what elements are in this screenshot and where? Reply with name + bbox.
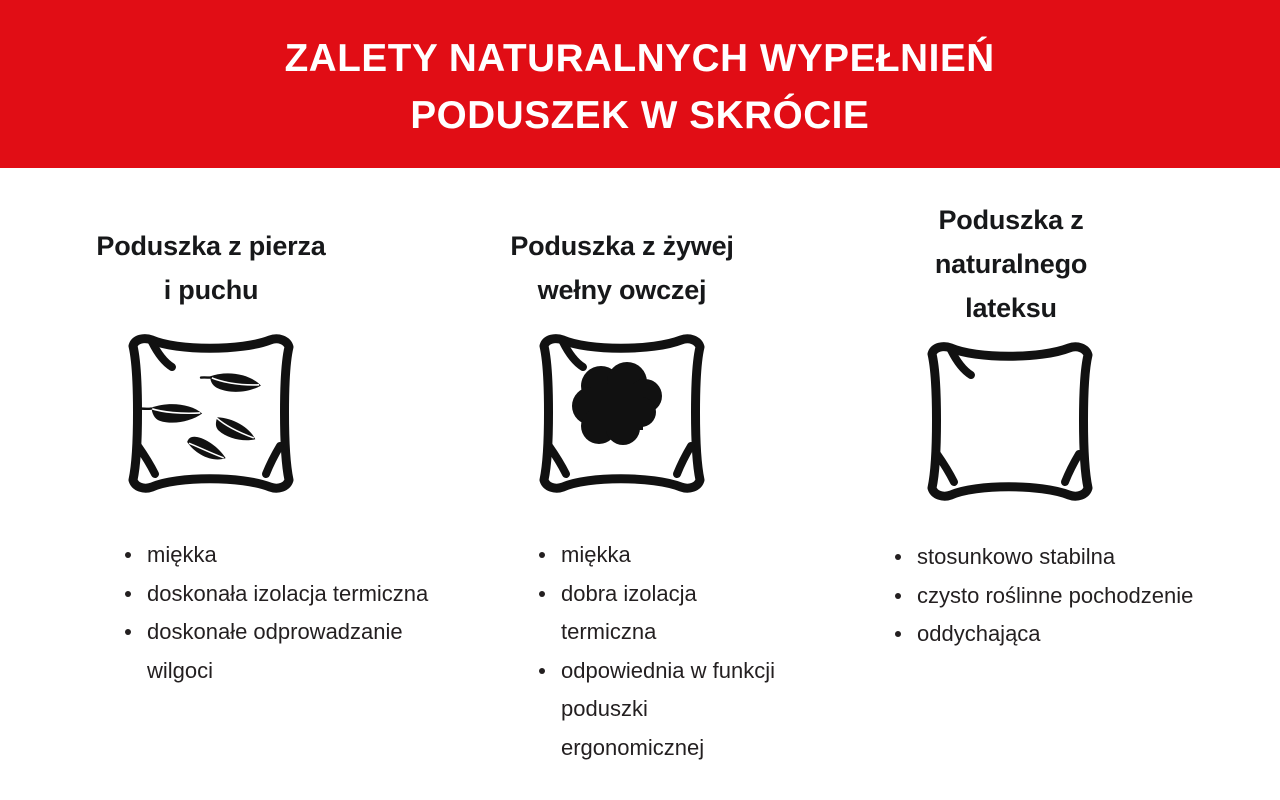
pillow-plain-icon xyxy=(921,342,1099,502)
header-title-line-2: PODUSZEK W SKRÓCIE xyxy=(410,87,869,144)
column-2-title-line-1: Poduszka z żywej xyxy=(452,224,792,268)
column-feather-down: Poduszka z pierza i puchu xyxy=(0,168,422,800)
list-item: czysto roślinne pochodzenie xyxy=(890,577,1220,616)
column-2-title-line-2: wełny owczej xyxy=(452,268,792,312)
pillow-with-feathers-icon xyxy=(122,334,300,494)
column-2-title: Poduszka z żywej wełny owczej xyxy=(422,224,822,312)
header-banner: ZALETY NATURALNYCH WYPEŁNIEŃ PODUSZEK W … xyxy=(0,0,1280,168)
list-item: doskonałe odprowadzanie wilgoci xyxy=(120,613,450,690)
column-1-title-line-2: i puchu xyxy=(40,268,382,312)
column-3-title-line-3: lateksu xyxy=(862,286,1160,330)
column-2-icon-wrap xyxy=(422,334,822,494)
column-3-title-line-1: Poduszka z xyxy=(862,198,1160,242)
column-3-title-line-2: naturalnego xyxy=(862,242,1160,286)
column-2-bullet-list: miękka dobra izolacja termiczna odpowied… xyxy=(534,536,784,767)
list-item: miękka xyxy=(534,536,784,575)
list-item: doskonała izolacja termiczna xyxy=(120,575,450,614)
list-item: miękka xyxy=(120,536,450,575)
comparison-columns: Poduszka z pierza i puchu xyxy=(0,168,1280,800)
column-3-bullet-list: stosunkowo stabilna czysto roślinne poch… xyxy=(890,538,1220,654)
list-item: odpowiednia w funkcji poduszki ergonomic… xyxy=(534,652,784,768)
column-3-title: Poduszka z naturalnego lateksu xyxy=(822,198,1280,330)
column-sheep-wool: Poduszka z żywej wełny owczej xyxy=(422,168,822,800)
column-1-title-line-1: Poduszka z pierza xyxy=(40,224,382,268)
column-natural-latex: Poduszka z naturalnego lateksu stosunkow… xyxy=(822,168,1280,800)
column-1-icon-wrap xyxy=(0,334,422,494)
list-item: dobra izolacja termiczna xyxy=(534,575,784,652)
list-item: oddychająca xyxy=(890,615,1220,654)
column-1-title: Poduszka z pierza i puchu xyxy=(0,224,422,312)
list-item: stosunkowo stabilna xyxy=(890,538,1220,577)
header-title-line-1: ZALETY NATURALNYCH WYPEŁNIEŃ xyxy=(285,30,995,87)
column-1-bullet-list: miękka doskonała izolacja termiczna dosk… xyxy=(120,536,450,690)
pillow-with-wool-icon xyxy=(533,334,711,494)
column-3-icon-wrap xyxy=(822,342,1280,502)
